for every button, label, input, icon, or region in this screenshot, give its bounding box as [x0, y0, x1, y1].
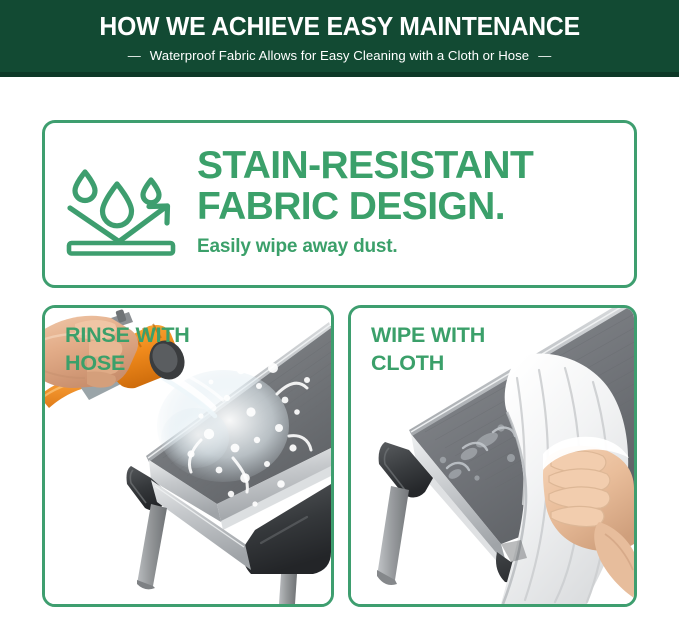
hand-wiping-cloth-on-lounger-photo	[351, 308, 634, 604]
dash-right-decoration: —	[538, 49, 551, 62]
hero-heading-line-1: STAIN-RESISTANT	[197, 146, 634, 186]
hero-subheading: Easily wipe away dust.	[197, 236, 634, 258]
page-subtitle: Waterproof Fabric Allows for Easy Cleani…	[150, 48, 529, 63]
header-banner: HOW WE ACHIEVE EASY MAINTENANCE — Waterp…	[0, 0, 679, 77]
feature-card-rinse: RINSE WITH HOSE	[42, 305, 334, 607]
hand-spraying-hose-on-lounger-photo	[45, 308, 331, 604]
hero-text-block: STAIN-RESISTANT FABRIC DESIGN. Easily wi…	[193, 146, 634, 261]
page-title: HOW WE ACHIEVE EASY MAINTENANCE	[99, 14, 579, 41]
subtitle-row: — Waterproof Fabric Allows for Easy Clea…	[128, 48, 551, 63]
hero-icon-container	[45, 151, 193, 257]
feature-card-wipe: WIPE WITH CLOTH	[348, 305, 637, 607]
banner-bottom-shade	[0, 72, 679, 77]
hero-feature-card: STAIN-RESISTANT FABRIC DESIGN. Easily wi…	[42, 120, 637, 288]
hero-heading-line-2: FABRIC DESIGN.	[197, 187, 634, 227]
water-repellent-icon	[63, 151, 181, 257]
infographic-page: HOW WE ACHIEVE EASY MAINTENANCE — Waterp…	[0, 0, 679, 618]
dash-left-decoration: —	[128, 49, 141, 62]
